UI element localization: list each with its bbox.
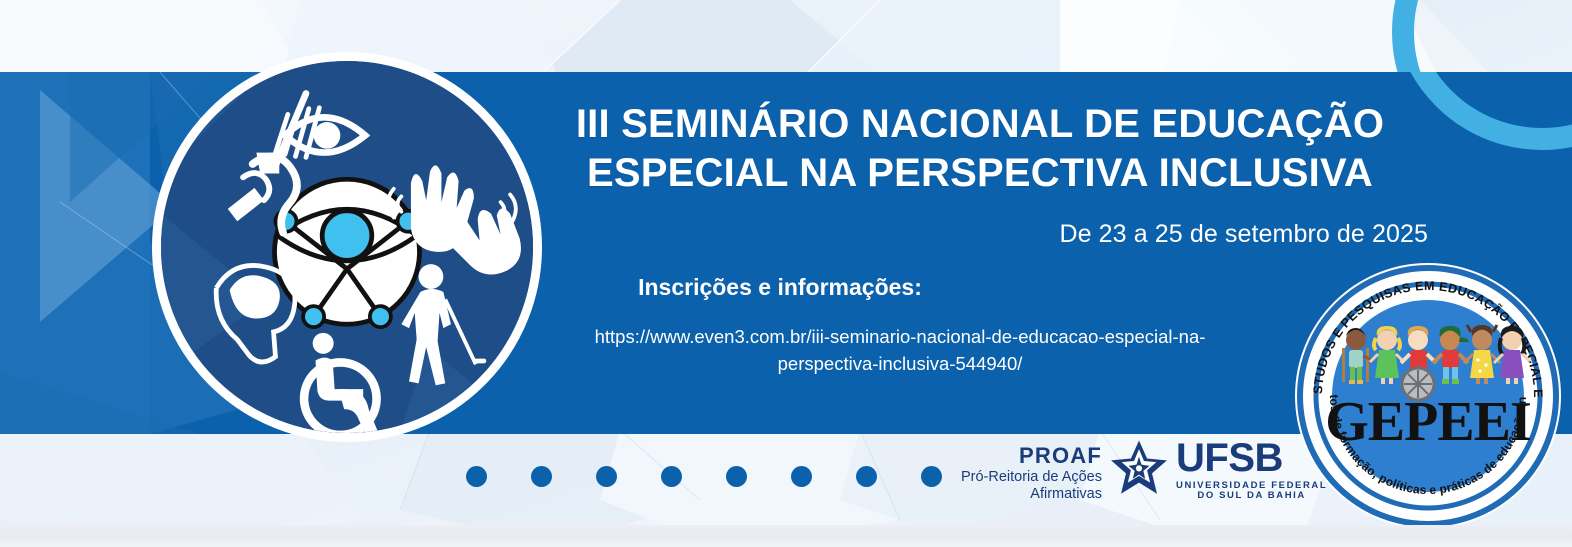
proaf-subtitle-line-1: Pró-Reitoria de Ações (952, 469, 1102, 486)
gepeei-seal: GRUPO DE ESTUDOS E PESQUISAS EM EDUCAÇÃO… (1294, 262, 1562, 530)
accessibility-emblem (152, 52, 542, 442)
dot (596, 466, 617, 487)
dot (466, 466, 487, 487)
event-dates: De 23 a 25 de setembro de 2025 (520, 220, 1428, 249)
proaf-title: PROAF (952, 443, 1102, 469)
title-line-2: ESPECIAL NA PERSPECTIVA INCLUSIVA (520, 149, 1440, 198)
event-banner: III SEMINÁRIO NACIONAL DE EDUCAÇÃO ESPEC… (0, 0, 1572, 547)
dot (661, 466, 682, 487)
dot-separator-row (466, 466, 942, 487)
title-line-1: III SEMINÁRIO NACIONAL DE EDUCAÇÃO (576, 102, 1384, 146)
dot (791, 466, 812, 487)
dot (531, 466, 552, 487)
seal-acronym: GEPEEI (1325, 391, 1531, 453)
registration-url[interactable]: https://www.even3.com.br/iii-seminario-n… (545, 324, 1255, 378)
proaf-logo: PROAF Pró-Reitoria de Ações Afirmativas (952, 443, 1102, 503)
accessibility-emblem-graphic (161, 61, 533, 433)
ufsb-star-mark-icon (1108, 438, 1170, 500)
bottom-strip (0, 525, 1572, 547)
proaf-subtitle-line-2: Afirmativas (952, 486, 1102, 503)
page-title: III SEMINÁRIO NACIONAL DE EDUCAÇÃO ESPEC… (520, 100, 1440, 198)
registration-label: Inscrições e informações: (430, 274, 1130, 301)
gepeei-seal-graphic: GRUPO DE ESTUDOS E PESQUISAS EM EDUCAÇÃO… (1294, 262, 1562, 530)
dot (856, 466, 877, 487)
dot (921, 466, 942, 487)
dot (726, 466, 747, 487)
